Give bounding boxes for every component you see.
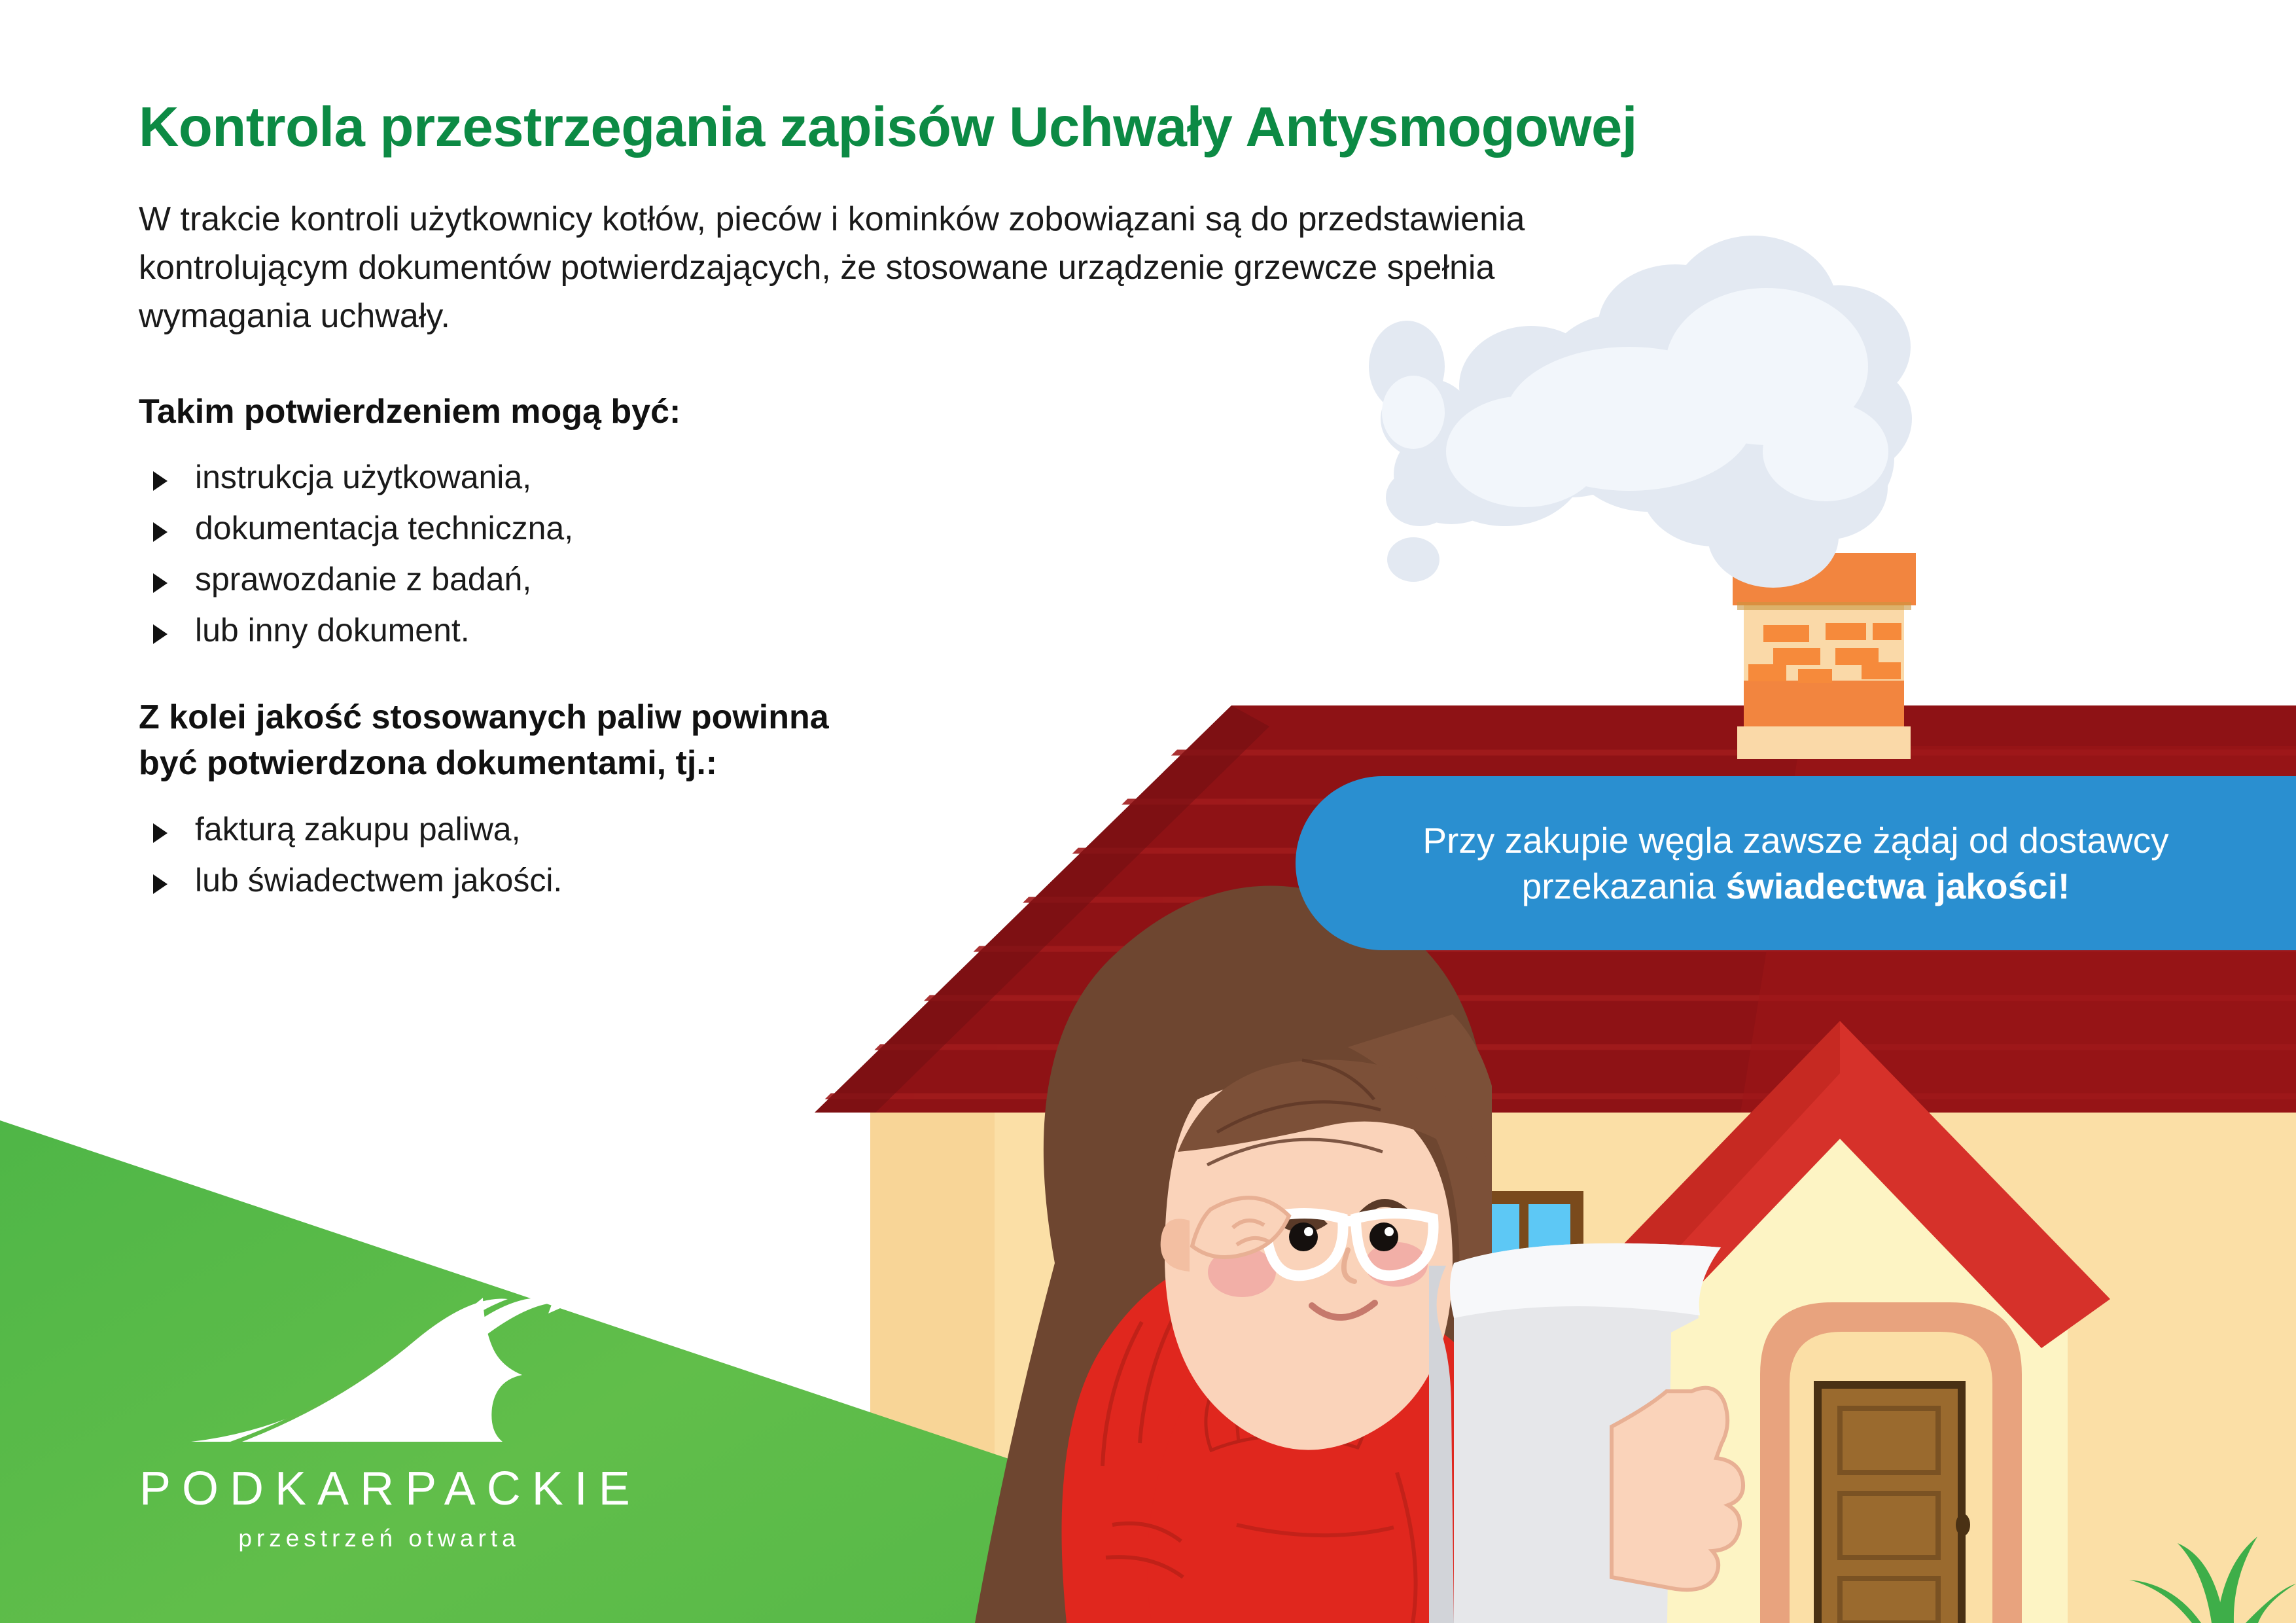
list-item: dokumentacja techniczna, (139, 512, 1055, 544)
list-item-label: instrukcja użytkowania, (195, 461, 531, 493)
triangle-bullet-icon (153, 471, 168, 491)
list-item-label: sprawozdanie z badań, (195, 563, 531, 596)
intro-paragraph: W trakcie kontroli użytkownicy kotłów, p… (139, 196, 1637, 340)
list-item: lub inny dokument. (139, 614, 1055, 647)
triangle-bullet-icon (153, 874, 168, 894)
intro-line-1: W trakcie kontroli użytkownicy kotłów, p… (139, 196, 1637, 244)
door (1760, 1302, 2022, 1623)
page-title: Kontrola przestrzegania zapisów Uchwały … (139, 98, 1742, 156)
subheading-fuel-quality: Z kolei jakość stosowanych paliw powinna… (139, 695, 1742, 786)
triangle-bullet-icon (153, 522, 168, 542)
list-item-label: lub inny dokument. (195, 614, 470, 647)
subheading-documents-line: Takim potwierdzeniem mogą być: (139, 389, 1742, 435)
fuel-documents-list: fakturą zakupu paliwa, lub świadectwem j… (139, 813, 1055, 897)
list-item-label: dokumentacja techniczna, (195, 512, 573, 544)
logo-podkarpackie: PODKARPACKIE przestrzeń otwarta (128, 1293, 626, 1552)
documents-list: instrukcja użytkowania, dokumentacja tec… (139, 461, 1055, 647)
list-item: fakturą zakupu paliwa, (139, 813, 1055, 846)
list-item: instrukcja użytkowania, (139, 461, 1055, 493)
list-item-label: fakturą zakupu paliwa, (195, 813, 521, 846)
intro-line-3: wymagania uchwały. (139, 293, 1637, 341)
infographic-canvas: Kontrola przestrzegania zapisów Uchwały … (0, 0, 2296, 1623)
callout-line-2-bold: świadectwa jakości! (1726, 866, 2070, 906)
document-scroll (1429, 1243, 1743, 1623)
list-item-label: lub świadectwem jakości. (195, 864, 562, 897)
callout-banner: Przy zakupie węgla zawsze żądaj od dosta… (1296, 776, 2296, 950)
triangle-bullet-icon (153, 624, 168, 644)
callout-line-2-normal: przekazania (1522, 866, 1726, 906)
callout-line-2: przekazania świadectwa jakości! (1522, 863, 2070, 909)
list-item: lub świadectwem jakości. (139, 864, 1055, 897)
intro-line-2: kontrolującym dokumentów potwierdzającyc… (139, 244, 1637, 293)
logo-wordmark: PODKARPACKIE (128, 1462, 626, 1516)
callout-line-1: Przy zakupie węgla zawsze żądaj od dosta… (1422, 817, 2168, 863)
triangle-bullet-icon (153, 823, 168, 843)
subheading-fuel-quality-line-1: Z kolei jakość stosowanych paliw powinna (139, 695, 1742, 741)
podkarpackie-mark-icon (165, 1293, 584, 1459)
list-item: sprawozdanie z badań, (139, 563, 1055, 596)
triangle-bullet-icon (153, 573, 168, 593)
logo-tagline: przestrzeń otwarta (128, 1525, 626, 1552)
subheading-documents: Takim potwierdzeniem mogą być: (139, 389, 1742, 435)
